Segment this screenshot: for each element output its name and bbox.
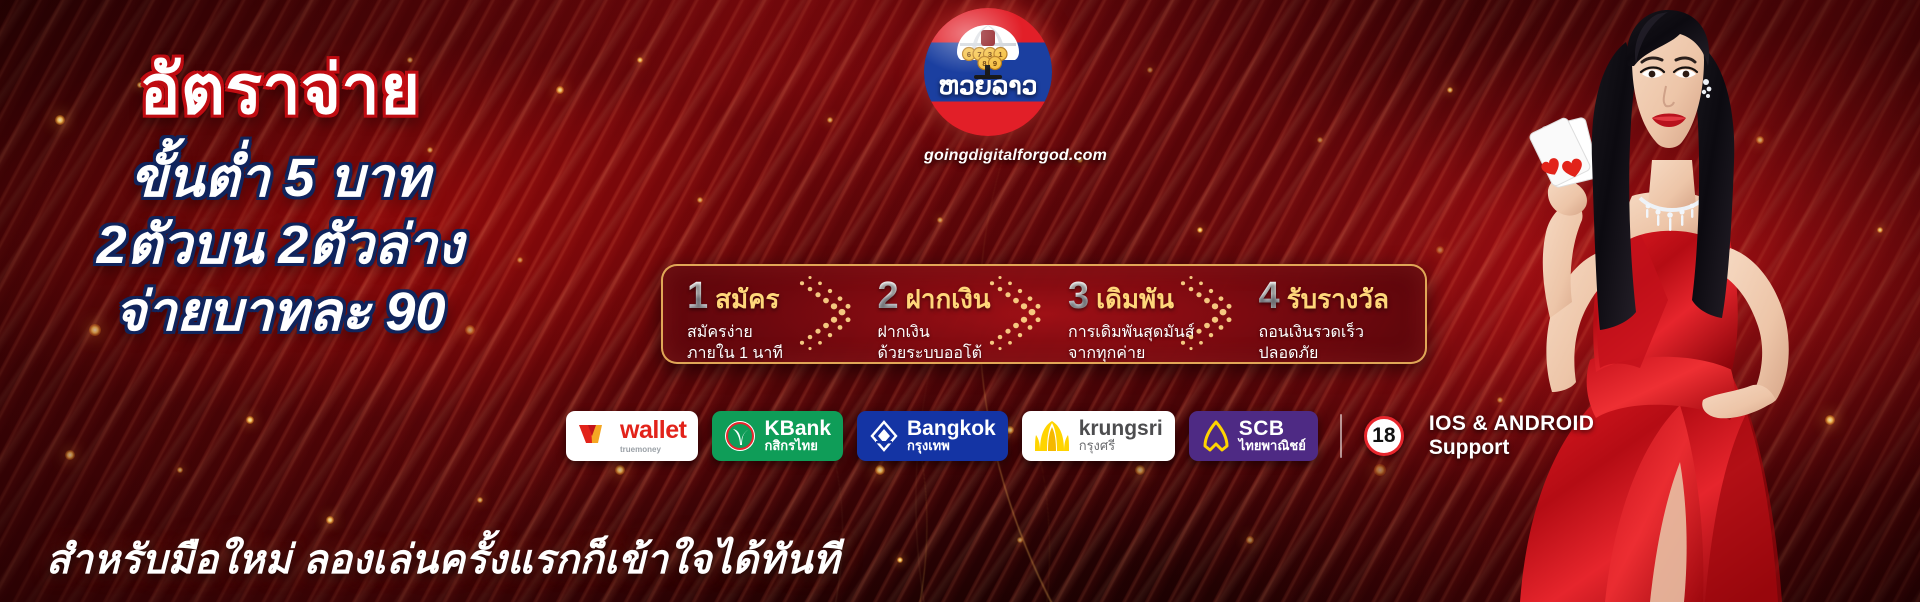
support-line-1: IOS & ANDROID: [1429, 412, 1594, 436]
sparkle-dot: [1697, 297, 1703, 303]
sparkle-dot: [1317, 137, 1323, 143]
page-title: อัตราจ่าย: [0, 54, 560, 126]
sparkle-dot: [637, 57, 643, 63]
sparkle-dot: [1497, 397, 1503, 403]
sparkle-dot: [177, 467, 183, 473]
sparkle-dot: [1825, 415, 1835, 425]
promo-banner: อัตราจ่าย ขั้นต่ำ 5 บาท 2ตัวบน 2ตัวล่าง …: [0, 0, 1920, 602]
sparkle-dot: [1756, 136, 1764, 144]
brand-logo[interactable]: 6 7 3 1 8 9 ຫວຍລາວ goingdigitalforgod.co…: [924, 8, 1052, 165]
step-desc-line-1: ถอนเงินรวดเร็ว: [1259, 322, 1426, 343]
kbank-wordmark: KBank: [764, 418, 831, 439]
payment-logo-scb[interactable]: SCB ไทยพาณิชย์: [1189, 411, 1318, 461]
scb-mark-icon: [1201, 420, 1231, 452]
step-header: 1 สมัคร: [687, 277, 854, 315]
sparkle-dot: [1374, 464, 1386, 476]
logo-gloss: [924, 8, 1052, 136]
scb-thai-name: ไทยพาณิชย์: [1239, 439, 1306, 453]
subheadline-line-2: 2ตัวบน 2ตัวล่าง: [0, 213, 560, 278]
krungsri-mark-icon: [1034, 419, 1070, 453]
step-desc-line-2: ด้วยระบบออโต้: [878, 343, 1045, 364]
sparkle-dot: [937, 217, 943, 223]
sparkle-dot: [246, 416, 254, 424]
sparkle-dot: [1597, 557, 1603, 563]
step-item-1[interactable]: 1 สมัคร สมัครง่าย ภายใน 1 นาที: [663, 266, 854, 362]
step-desc-line-1: ฝากเงิน: [878, 322, 1045, 343]
payment-logo-kbank[interactable]: KBank กสิกรไทย: [712, 411, 843, 461]
step-desc-line-2: ปลอดภัย: [1259, 343, 1426, 364]
sparkle-dot: [1616, 466, 1624, 474]
step-title: เดิมพัน: [1096, 286, 1174, 312]
subheadline-line-1: ขั้นต่ำ 5 บาท: [0, 146, 560, 211]
step-number: 2: [878, 277, 899, 315]
sparkle-dot: [1447, 87, 1453, 93]
truemoney-wordmark: wallet: [620, 418, 686, 443]
support-line-2: Support: [1429, 436, 1594, 460]
sparkle-dot: [697, 197, 703, 203]
step-number: 1: [687, 277, 708, 315]
krungsri-wordmark: krungsri: [1079, 418, 1163, 439]
step-description: ฝากเงิน ด้วยระบบออโต้: [878, 322, 1045, 364]
step-title: รับรางวัล: [1287, 286, 1389, 312]
step-number: 4: [1259, 277, 1280, 315]
site-url: goingdigitalforgod.com: [924, 147, 1052, 165]
step-description: การเดิมพันสุดมันส์ จากทุกค่าย: [1068, 322, 1235, 364]
kbank-thai-name: กสิกรไทย: [764, 439, 817, 453]
step-description: ถอนเงินรวดเร็ว ปลอดภัย: [1259, 322, 1426, 364]
payment-logo-truemoney-wallet[interactable]: wallet truemoney: [566, 411, 698, 461]
scb-wordmark: SCB: [1239, 418, 1285, 439]
bangkok-bank-mark-icon: [869, 420, 899, 452]
sparkle-dot: [1436, 246, 1444, 254]
truemoney-mark-icon: [578, 422, 612, 450]
kbank-mark-icon: [724, 420, 756, 452]
age-restriction-badge: 18: [1364, 416, 1404, 456]
sparkle-dot: [1147, 67, 1153, 73]
step-desc-line-1: การเดิมพันสุดมันส์: [1068, 322, 1235, 343]
payment-logo-krungsri[interactable]: krungsri กรุงศรี: [1022, 411, 1175, 461]
sparkle-dot: [1197, 227, 1203, 233]
sparkle-dot: [65, 450, 75, 460]
sparkle-dot: [477, 497, 483, 503]
step-title: ฝากเงิน: [906, 286, 991, 312]
step-item-2[interactable]: 2 ฝากเงิน ฝากเงิน ด้วยระบบออโต้: [854, 266, 1045, 362]
steps-bar: 1 สมัคร สมัครง่าย ภายใน 1 นาที: [661, 264, 1427, 364]
sparkle-dot: [1246, 536, 1254, 544]
bangkok-thai-name: กรุงเทพ: [907, 439, 950, 453]
sparkle-dot: [326, 516, 334, 524]
sparkle-dot: [1555, 175, 1565, 185]
step-header: 4 รับรางวัล: [1259, 277, 1426, 315]
payment-methods-row: wallet truemoney KBank กสิกรไทย: [566, 408, 1594, 464]
subheadline-line-3: จ่ายบาทละ 90: [0, 280, 560, 345]
logo-circle: 6 7 3 1 8 9 ຫວຍລາວ: [924, 8, 1052, 136]
sparkle-dot: [615, 465, 625, 475]
sparkle-dot: [1135, 465, 1145, 475]
headline-block: อัตราจ่าย ขั้นต่ำ 5 บาท 2ตัวบน 2ตัวล่าง …: [0, 54, 560, 344]
subheadline-list: ขั้นต่ำ 5 บาท 2ตัวบน 2ตัวล่าง จ่ายบาทละ …: [0, 146, 560, 344]
bangkok-wordmark: Bangkok: [907, 418, 996, 439]
sparkle-dot: [1017, 537, 1023, 543]
model-photo: [1400, 0, 1920, 602]
tagline: สำหรับมือใหม่ ลองเล่นครั้งแรกก็เข้าใจได้…: [46, 527, 839, 591]
step-item-4[interactable]: 4 รับรางวัล ถอนเงินรวดเร็ว ปลอดภัย: [1235, 266, 1426, 362]
step-desc-line-2: จากทุกค่าย: [1068, 343, 1235, 364]
sparkle-dot: [827, 117, 833, 123]
platform-support-label: IOS & ANDROID Support: [1429, 412, 1594, 459]
krungsri-thai-name: กรุงศรี: [1079, 439, 1115, 454]
truemoney-subtext: truemoney: [620, 445, 661, 454]
sparkle-dot: [1877, 227, 1883, 233]
step-header: 3 เดิมพัน: [1068, 277, 1235, 315]
sparkle-dot: [1697, 57, 1703, 63]
step-desc-line-2: ภายใน 1 นาที: [687, 343, 854, 364]
step-item-3[interactable]: 3 เดิมพัน การเดิมพันสุดมันส์ จากทุกค่าย: [1044, 266, 1235, 362]
step-title: สมัคร: [715, 286, 779, 312]
step-desc-line-1: สมัครง่าย: [687, 322, 854, 343]
sparkle-dot: [875, 465, 885, 475]
vertical-divider: [1340, 414, 1342, 458]
step-description: สมัครง่าย ภายใน 1 นาที: [687, 322, 854, 364]
payment-logo-bangkok-bank[interactable]: Bangkok กรุงเทพ: [857, 411, 1008, 461]
step-number: 3: [1068, 277, 1089, 315]
sparkle-dot: [897, 557, 903, 563]
step-header: 2 ฝากเงิน: [878, 277, 1045, 315]
